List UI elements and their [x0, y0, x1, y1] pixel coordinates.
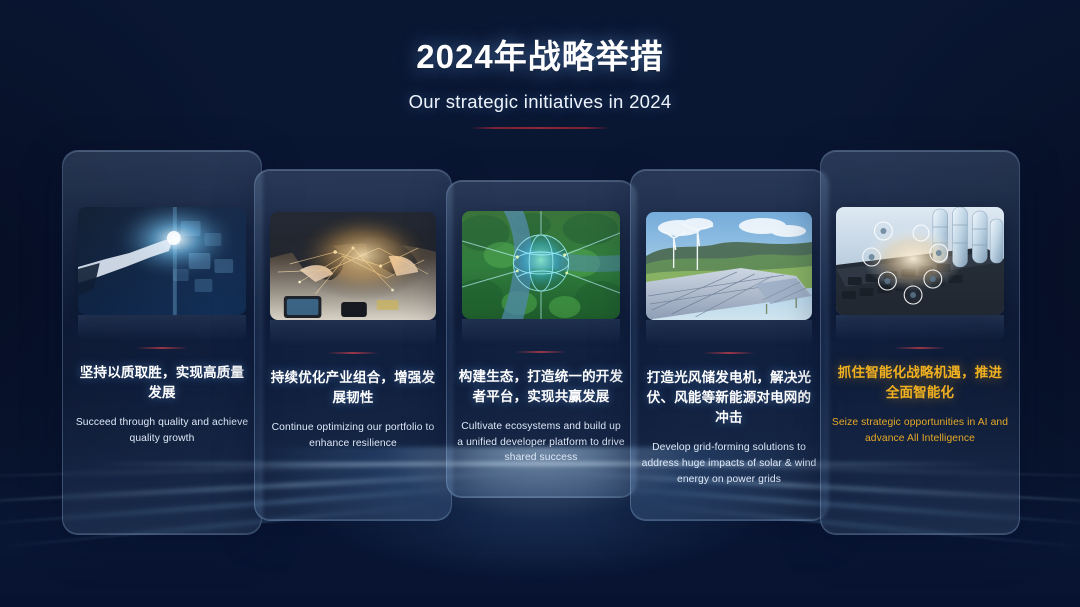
card-divider	[327, 352, 379, 354]
initiative-card-3-text: 构建生态，打造统一的开发者平台，实现共赢发展 Cultivate ecosyst…	[457, 351, 625, 466]
thumbnail-reflection	[646, 320, 812, 346]
card-divider	[136, 347, 188, 349]
thumbnail-reflection	[78, 315, 246, 341]
initiative-card-3-title-en: Cultivate ecosystems and build up a unif…	[457, 419, 625, 466]
initiative-card-3-title-cn: 构建生态，打造统一的开发者平台，实现共赢发展	[457, 367, 625, 408]
thumbnail-reflection	[462, 319, 620, 345]
initiative-card-4-title-en: Develop grid-forming solutions to addres…	[641, 440, 817, 487]
initiative-card-4-text: 打造光风储发电机，解决光伏、风能等新能源对电网的冲击 Develop grid-…	[641, 352, 817, 487]
initiative-card-5[interactable]: 抓住智能化战略机遇，推进全面智能化 Seize strategic opport…	[820, 150, 1020, 535]
hand-touching-digital-panels-image	[78, 207, 246, 315]
initiative-card-2[interactable]: 持续优化产业组合，增强发展韧性 Continue optimizing our …	[254, 169, 452, 521]
initiative-card-5-text: 抓住智能化战略机遇，推进全面智能化 Seize strategic opport…	[831, 347, 1009, 446]
initiative-card-1-title-en: Succeed through quality and achieve qual…	[73, 415, 251, 446]
card-divider	[894, 347, 946, 349]
initiative-card-4[interactable]: 打造光风储发电机，解决光伏、风能等新能源对电网的冲击 Develop grid-…	[630, 169, 828, 521]
initiative-card-1-title-cn: 坚持以质取胜，实现高质量发展	[73, 363, 251, 404]
initiative-card-2-title-en: Continue optimizing our portfolio to enh…	[265, 420, 441, 451]
initiative-card-3[interactable]: 构建生态，打造统一的开发者平台，实现共赢发展 Cultivate ecosyst…	[446, 180, 636, 498]
page-title-cn: 2024年战略举措	[0, 30, 1080, 78]
title-divider	[469, 127, 611, 129]
green-forest-digital-globe-image	[462, 211, 620, 319]
initiative-card-5-title-cn: 抓住智能化战略机遇，推进全面智能化	[831, 363, 1009, 404]
initiative-card-5-title-en: Seize strategic opportunities in AI and …	[831, 415, 1009, 446]
slide-stage: 2024年战略举措 Our strategic initiatives in 2…	[0, 0, 1080, 607]
thumbnail-reflection	[270, 320, 436, 346]
initiative-card-2-title-cn: 持续优化产业组合，增强发展韧性	[265, 368, 441, 409]
page-title-en: Our strategic initiatives in 2024	[0, 91, 1080, 113]
thumbnail-reflection	[836, 315, 1004, 341]
initiative-card-2-text: 持续优化产业组合，增强发展韧性 Continue optimizing our …	[265, 352, 441, 451]
initiative-card-1[interactable]: 坚持以质取胜，实现高质量发展 Succeed through quality a…	[62, 150, 262, 535]
robotic-hand-keyboard-ai-icons-image	[836, 207, 1004, 315]
card-divider	[515, 351, 567, 353]
initiative-card-4-title-cn: 打造光风储发电机，解决光伏、风能等新能源对电网的冲击	[641, 368, 817, 429]
slide-header: 2024年战略举措 Our strategic initiatives in 2…	[0, 0, 1080, 129]
card-divider	[703, 352, 755, 354]
hands-tablet-network-lines-image	[270, 212, 436, 320]
initiative-card-1-text: 坚持以质取胜，实现高质量发展 Succeed through quality a…	[73, 347, 251, 446]
solar-panels-wind-turbines-image	[646, 212, 812, 320]
